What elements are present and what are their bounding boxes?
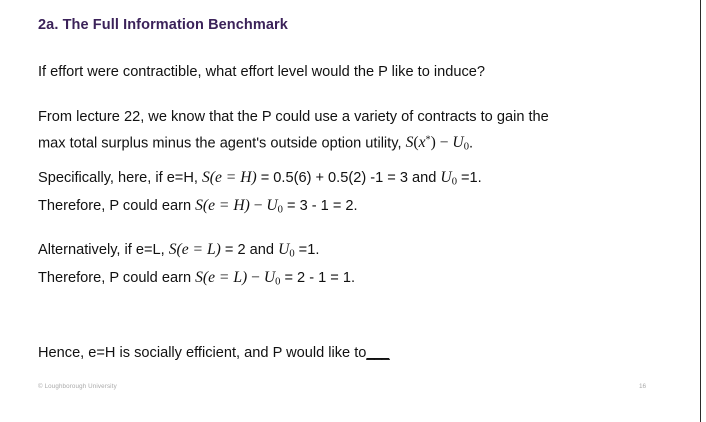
lecture-line-1: From lecture 22, we know that the P coul… [38,105,549,129]
math-U: U [452,134,463,151]
alternative-line-1: Alternatively, if e=L, S(e = L) = 2 and … [38,238,355,266]
specific-line-1-prefix: Specifically, here, if e=H, [38,170,202,186]
math-outside-option-low: U0 [278,241,295,258]
math-principal-earnings-low: S(e = L) − U0 [195,269,280,286]
math-surplus-high: S(e = H) [195,197,250,214]
specific-line-2-suffix: = 3 - 1 = 2. [283,198,358,214]
paragraph-conclusion: Hence, e=H is socially efficient, and P … [38,341,389,365]
paragraph-effort-high: Specifically, here, if e=H, S(e = H) = 0… [38,166,482,223]
question-line-1: If effort were contractible, what effort… [38,60,485,84]
math-U: U [264,269,275,286]
paragraph-question: If effort were contractible, what effort… [38,60,485,84]
math-minus: − [436,134,453,151]
alternative-line-2-suffix: = 2 - 1 = 1. [280,270,355,286]
lecture-line-2-text: max total surplus minus the agent's outs… [38,135,406,151]
specific-line-1-middle: = 0.5(6) + 0.5(2) -1 = 3 and [257,170,441,186]
slide-canvas: 2a. The Full Information Benchmark If ef… [0,0,706,422]
footer-copyright: © Loughborough University [38,383,117,390]
alternative-line-1-suffix: =1. [295,242,320,258]
specific-line-2: Therefore, P could earn S(e = H) − U0 = … [38,194,482,222]
alternative-line-2-prefix: Therefore, P could earn [38,270,195,286]
math-U: U [278,241,289,258]
lecture-line-2-period: . [469,135,473,151]
hence-line-1-text: Hence, e=H is socially efficient, and P … [38,345,366,361]
math-outside-option-high: U0 [440,169,457,186]
specific-line-1: Specifically, here, if e=H, S(e = H) = 0… [38,166,482,194]
alternative-line-1-prefix: Alternatively, if e=L, [38,242,169,258]
hence-line-1: Hence, e=H is socially efficient, and P … [38,341,389,365]
math-minus: − [247,269,264,286]
paragraph-effort-low: Alternatively, if e=L, S(e = L) = 2 and … [38,238,355,295]
footer-page-number: 16 [639,383,646,390]
math-U: U [266,197,277,214]
alternative-line-1-middle: = 2 and [221,242,278,258]
specific-line-2-prefix: Therefore, P could earn [38,198,195,214]
math-minus: − [250,197,267,214]
math-max-surplus-expression: S(x*) − U0 [406,134,469,151]
math-surplus-low: S(e = L) [195,269,247,286]
math-principal-earnings-high: S(e = H) − U0 [195,197,283,214]
page-title: 2a. The Full Information Benchmark [38,17,288,33]
lecture-line-2: max total surplus minus the agent's outs… [38,129,549,160]
specific-line-1-suffix: =1. [457,170,482,186]
slide-right-border [700,0,701,422]
fill-in-blank: ___ [366,345,389,361]
math-surplus-low: S(e = L) [169,241,221,258]
math-surplus-high: S(e = H) [202,169,257,186]
paragraph-lecture-reference: From lecture 22, we know that the P coul… [38,105,549,160]
alternative-line-2: Therefore, P could earn S(e = L) − U0 = … [38,266,355,294]
math-U: U [440,169,451,186]
